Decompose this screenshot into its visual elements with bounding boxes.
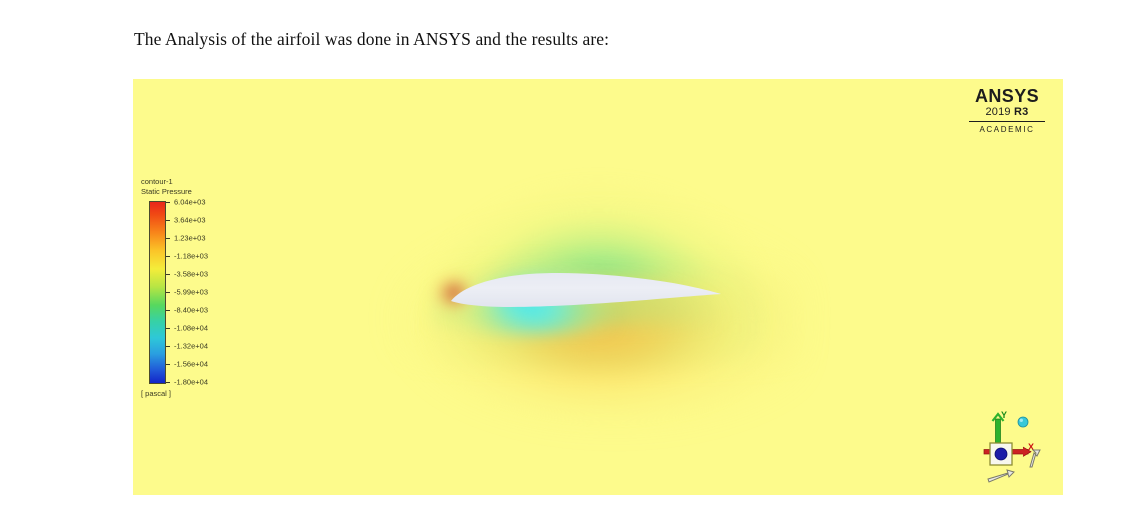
legend-contour-name: contour-1 [141, 177, 251, 187]
svg-text:Y: Y [1001, 410, 1007, 420]
legend-tick-label: -1.08e+04 [174, 324, 208, 333]
legend-tick-label: -1.32e+04 [174, 342, 208, 351]
legend-tick-label: -5.99e+03 [174, 288, 208, 297]
legend-tick [166, 292, 170, 293]
legend-tick-label: 1.23e+03 [174, 234, 206, 243]
legend-tick-label: -3.58e+03 [174, 270, 208, 279]
y-axis-arrow-icon: Y [993, 410, 1008, 445]
sphere-marker-icon [1018, 417, 1028, 427]
rotation-arrow-up-icon [1030, 450, 1040, 467]
z-axis-center-cube-icon [990, 443, 1012, 465]
legend-variable-name: Static Pressure [141, 187, 251, 197]
contour-legend: contour-1 Static Pressure 6.04e+03 3.64e… [141, 177, 251, 398]
page-caption: The Analysis of the airfoil was done in … [134, 29, 609, 50]
axis-triad-widget[interactable]: Y X [968, 405, 1048, 485]
legend-tick-label: -1.18e+03 [174, 252, 208, 261]
ansys-logo: ANSYS 2019 R3 ACADEMIC [965, 87, 1049, 135]
brand-divider [969, 121, 1045, 122]
legend-tick [166, 364, 170, 365]
cfd-contour-viewport[interactable]: contour-1 Static Pressure 6.04e+03 3.64e… [133, 79, 1063, 495]
legend-tick-label: -8.40e+03 [174, 306, 208, 315]
airfoil-body [433, 259, 723, 319]
legend-tick [166, 220, 170, 221]
legend-tick-label: -1.80e+04 [174, 378, 208, 387]
ansys-version-release: R3 [1014, 106, 1028, 118]
ansys-version: 2019 R3 [965, 106, 1049, 119]
legend-colorbar [149, 201, 166, 384]
ansys-wordmark: ANSYS [965, 87, 1049, 106]
legend-colorbar-group: 6.04e+03 3.64e+03 1.23e+03 -1.18e+03 -3.… [141, 201, 251, 384]
legend-tick [166, 382, 170, 383]
legend-tick [166, 202, 170, 203]
x-axis-arrow-icon: X [1010, 442, 1034, 457]
legend-tick [166, 238, 170, 239]
legend-title: contour-1 Static Pressure [141, 177, 251, 196]
ansys-license-label: ACADEMIC [965, 124, 1049, 135]
legend-tick [166, 256, 170, 257]
legend-tick-label: -1.56e+04 [174, 360, 208, 369]
legend-tick-label: 3.64e+03 [174, 216, 206, 225]
contour-green-field [433, 149, 763, 364]
legend-unit-label: [ pascal ] [141, 389, 251, 398]
legend-tick [166, 274, 170, 275]
ansys-version-year: 2019 [985, 106, 1010, 118]
legend-tick [166, 346, 170, 347]
legend-tick [166, 310, 170, 311]
legend-tick-label: 6.04e+03 [174, 198, 206, 207]
legend-tick [166, 328, 170, 329]
rotation-arrow-left-icon [988, 470, 1014, 482]
